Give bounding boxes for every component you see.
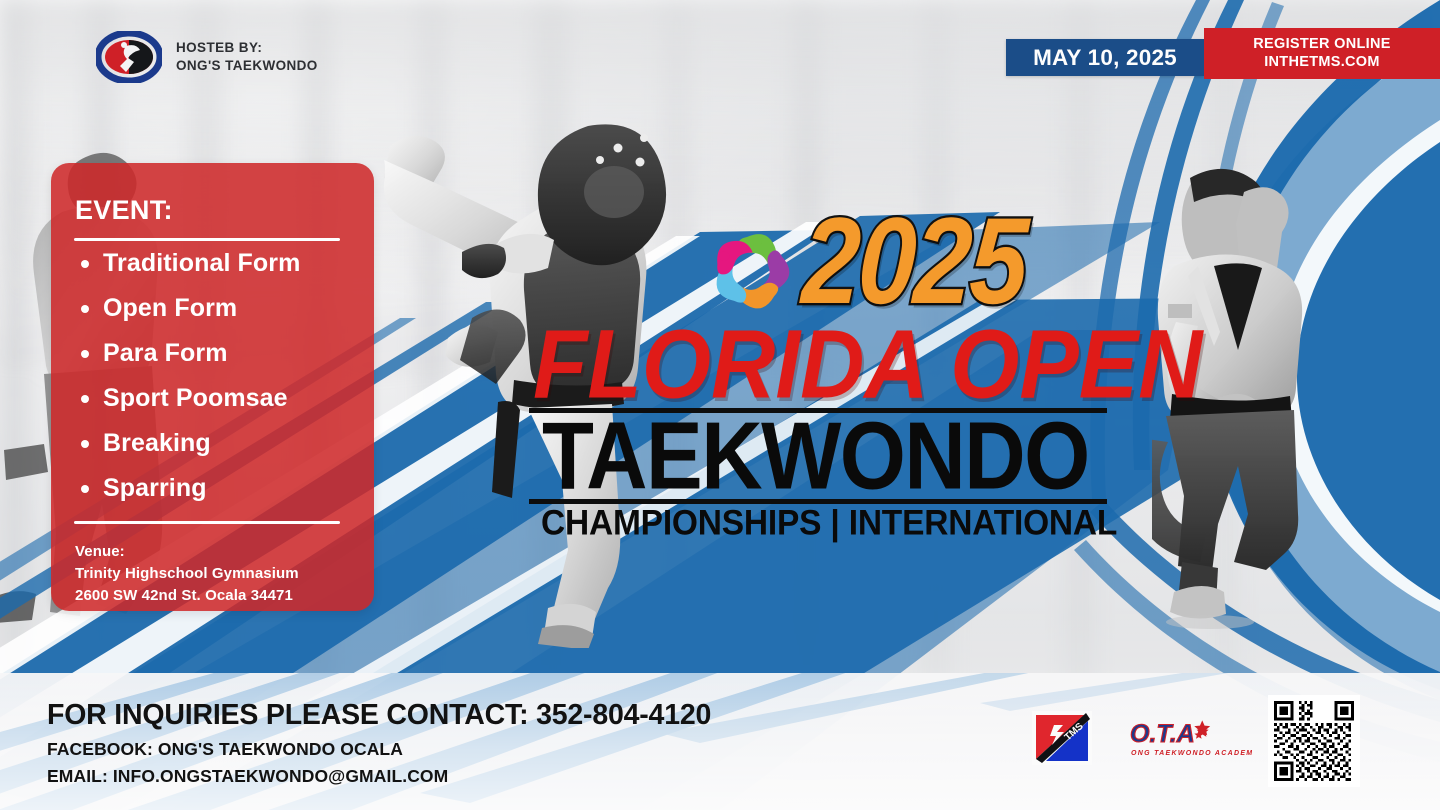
contact-facebook-line: FACEBOOK: ONG'S TAEKWONDO OCALA (47, 739, 403, 760)
year-text: 2025 (800, 206, 1028, 319)
list-item: Traditional Form (75, 251, 355, 276)
venue-address: 2600 SW 42nd St. Ocala 34471 (75, 585, 299, 607)
list-item: Sparring (75, 476, 355, 501)
svg-text:ONG TAEKWONDO ACADEMY: ONG TAEKWONDO ACADEMY (1131, 750, 1252, 757)
event-divider-bottom (74, 521, 340, 524)
list-item: Para Form (75, 341, 355, 366)
venue-block: Venue: Trinity Highschool Gymnasium 2600… (75, 541, 299, 608)
host-text: HOSTEB BY: ONG'S TAEKWONDO (176, 39, 318, 75)
event-divider-top (74, 238, 340, 241)
event-card: EVENT: Traditional Form Open Form Para F… (51, 163, 374, 611)
event-list: Traditional Form Open Form Para Form Spo… (75, 251, 355, 521)
headline-text: FLORIDA OPEN (533, 320, 1202, 410)
svg-text:O.T.A: O.T.A (1130, 720, 1195, 748)
contact-phone-line: FOR INQUIRIES PLEASE CONTACT: 352-804-41… (47, 699, 711, 732)
list-item: Breaking (75, 431, 355, 456)
host-block: HOSTEB BY: ONG'S TAEKWONDO (96, 31, 318, 83)
qr-code[interactable] (1268, 695, 1360, 787)
host-name: ONG'S TAEKWONDO (176, 57, 318, 75)
subtitle-text: CHAMPIONSHIPS | INTERNATIONAL (541, 504, 1117, 544)
host-label: HOSTEB BY: (176, 39, 318, 57)
venue-label: Venue: (75, 541, 299, 563)
event-card-title: EVENT: (75, 195, 173, 226)
tms-logo-icon: TMS (1032, 711, 1092, 765)
ota-logo-icon: O.T.A ONG TAEKWONDO ACADEMY (1128, 716, 1252, 760)
register-line-2: INTHETMS.COM (1264, 54, 1380, 72)
multicolor-pinwheel-figures-logo-icon (705, 227, 797, 315)
register-line-1: REGISTER ONLINE (1253, 36, 1390, 54)
list-item: Open Form (75, 296, 355, 321)
qr-code-icon (1274, 701, 1354, 781)
venue-name: Trinity Highschool Gymnasium (75, 563, 299, 585)
discipline-text: TAEKWONDO (542, 408, 1089, 506)
contact-email-line: EMAIL: INFO.ONGSTAEKWONDO@GMAIL.COM (47, 766, 448, 787)
ongs-taekwondo-oval-logo-icon (96, 31, 162, 83)
date-badge: MAY 10, 2025 (1006, 39, 1204, 76)
list-item: Sport Poomsae (75, 386, 355, 411)
poster-root: HOSTEB BY: ONG'S TAEKWONDO MAY 10, 2025 … (0, 0, 1440, 810)
register-badge[interactable]: REGISTER ONLINE INTHETMS.COM (1204, 28, 1440, 79)
